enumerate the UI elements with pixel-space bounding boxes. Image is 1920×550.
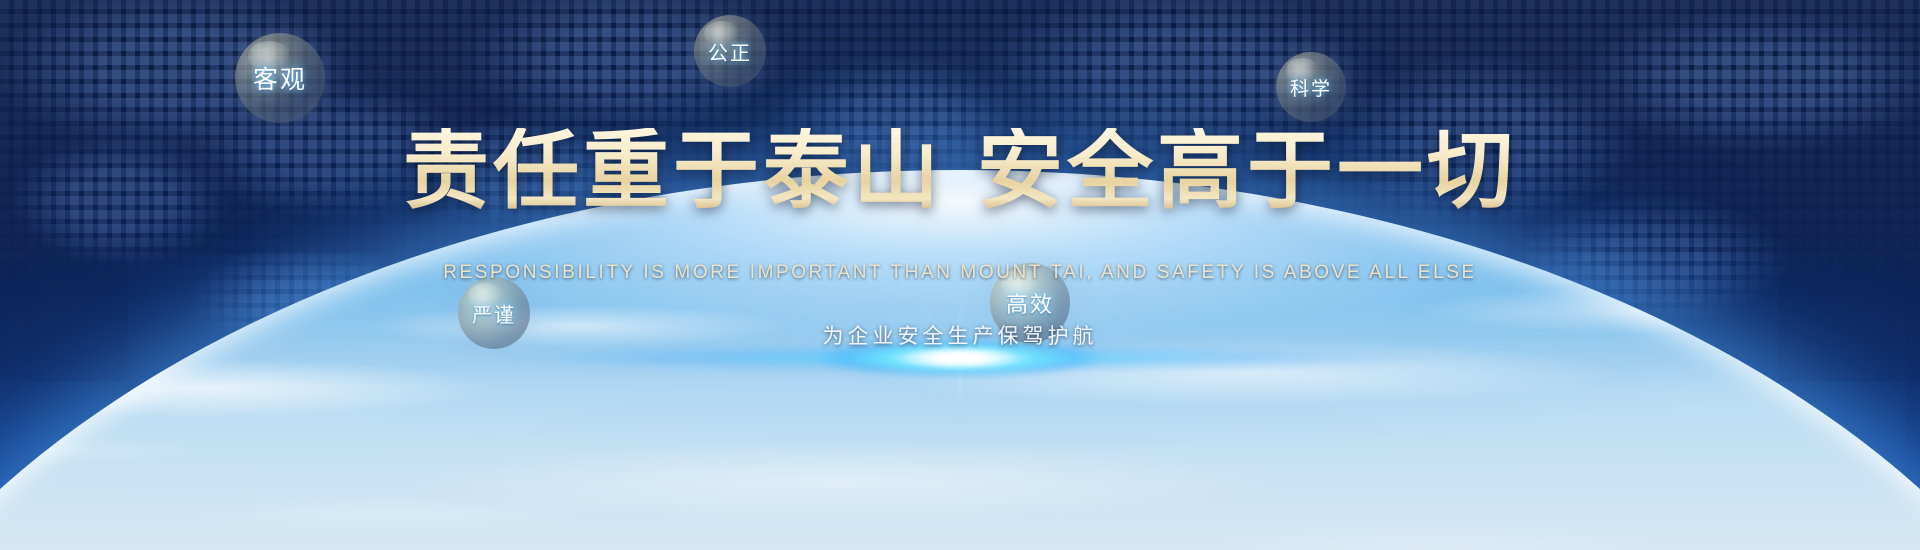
- badge-keguan-label: 客观: [253, 60, 307, 96]
- badge-kexue[interactable]: 科学: [1276, 52, 1346, 122]
- earth-globe: [0, 170, 1920, 550]
- badge-gongzheng[interactable]: 公正: [694, 15, 766, 87]
- safety-slogan-banner: 客观 公正 科学 严谨 高效 责任重于泰山安全高于一切 RESPONSIBILI…: [0, 0, 1920, 550]
- badge-gaoxiao[interactable]: 高效: [990, 263, 1070, 343]
- badge-yanjin[interactable]: 严谨: [458, 277, 530, 349]
- badge-gaoxiao-label: 高效: [1006, 287, 1054, 319]
- badge-gongzheng-label: 公正: [708, 37, 752, 66]
- badge-kexue-label: 科学: [1290, 74, 1332, 101]
- badge-yanjin-label: 严谨: [472, 299, 516, 328]
- earth-clouds: [0, 170, 1920, 550]
- badge-keguan[interactable]: 客观: [235, 33, 325, 123]
